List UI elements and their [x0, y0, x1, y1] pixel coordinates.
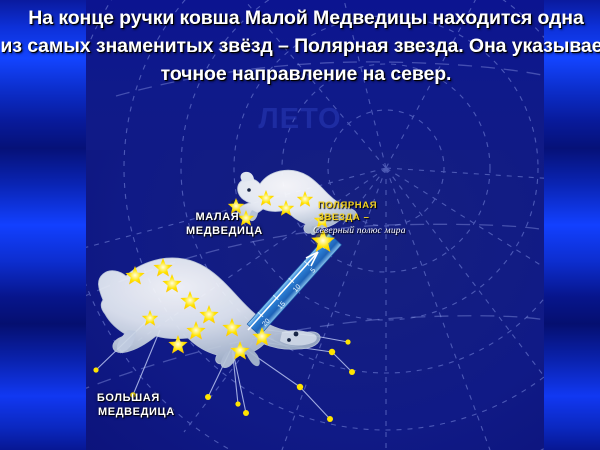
label-polaris-line2: ЗВЕЗДА –	[318, 212, 369, 223]
label-ursa-minor-line1: МАЛАЯ	[195, 211, 239, 223]
label-ursa-major-line1: БОЛЬШАЯ	[97, 392, 160, 404]
label-ursa-major: БОЛЬШАЯ МЕДВЕДИЦА	[82, 391, 175, 419]
slide-canvas: 20 15 10 5	[0, 0, 600, 450]
title-line-1: На конце ручки ковша Малой Медведицы нах…	[0, 4, 600, 32]
label-ursa-minor: МАЛАЯ МЕДВЕДИЦА	[172, 210, 263, 238]
slide-title: На конце ручки ковша Малой Медведицы нах…	[0, 4, 600, 88]
direction-arrow	[248, 252, 318, 330]
watermark-text: ЛЕТО	[0, 103, 600, 136]
label-ursa-minor-line2: МЕДВЕДИЦА	[186, 224, 263, 238]
label-polaris: ПОЛЯРНАЯ ЗВЕЗДА –	[318, 200, 377, 223]
title-line-2: из самых знаменитых звёзд – Полярная зве…	[0, 32, 600, 60]
label-ursa-major-line2: МЕДВЕДИЦА	[98, 405, 175, 419]
label-polaris-subtitle: Северный полюс мира	[313, 226, 406, 236]
title-line-3: точное направление на север.	[0, 60, 600, 88]
label-polaris-line1: ПОЛЯРНАЯ	[318, 200, 377, 211]
